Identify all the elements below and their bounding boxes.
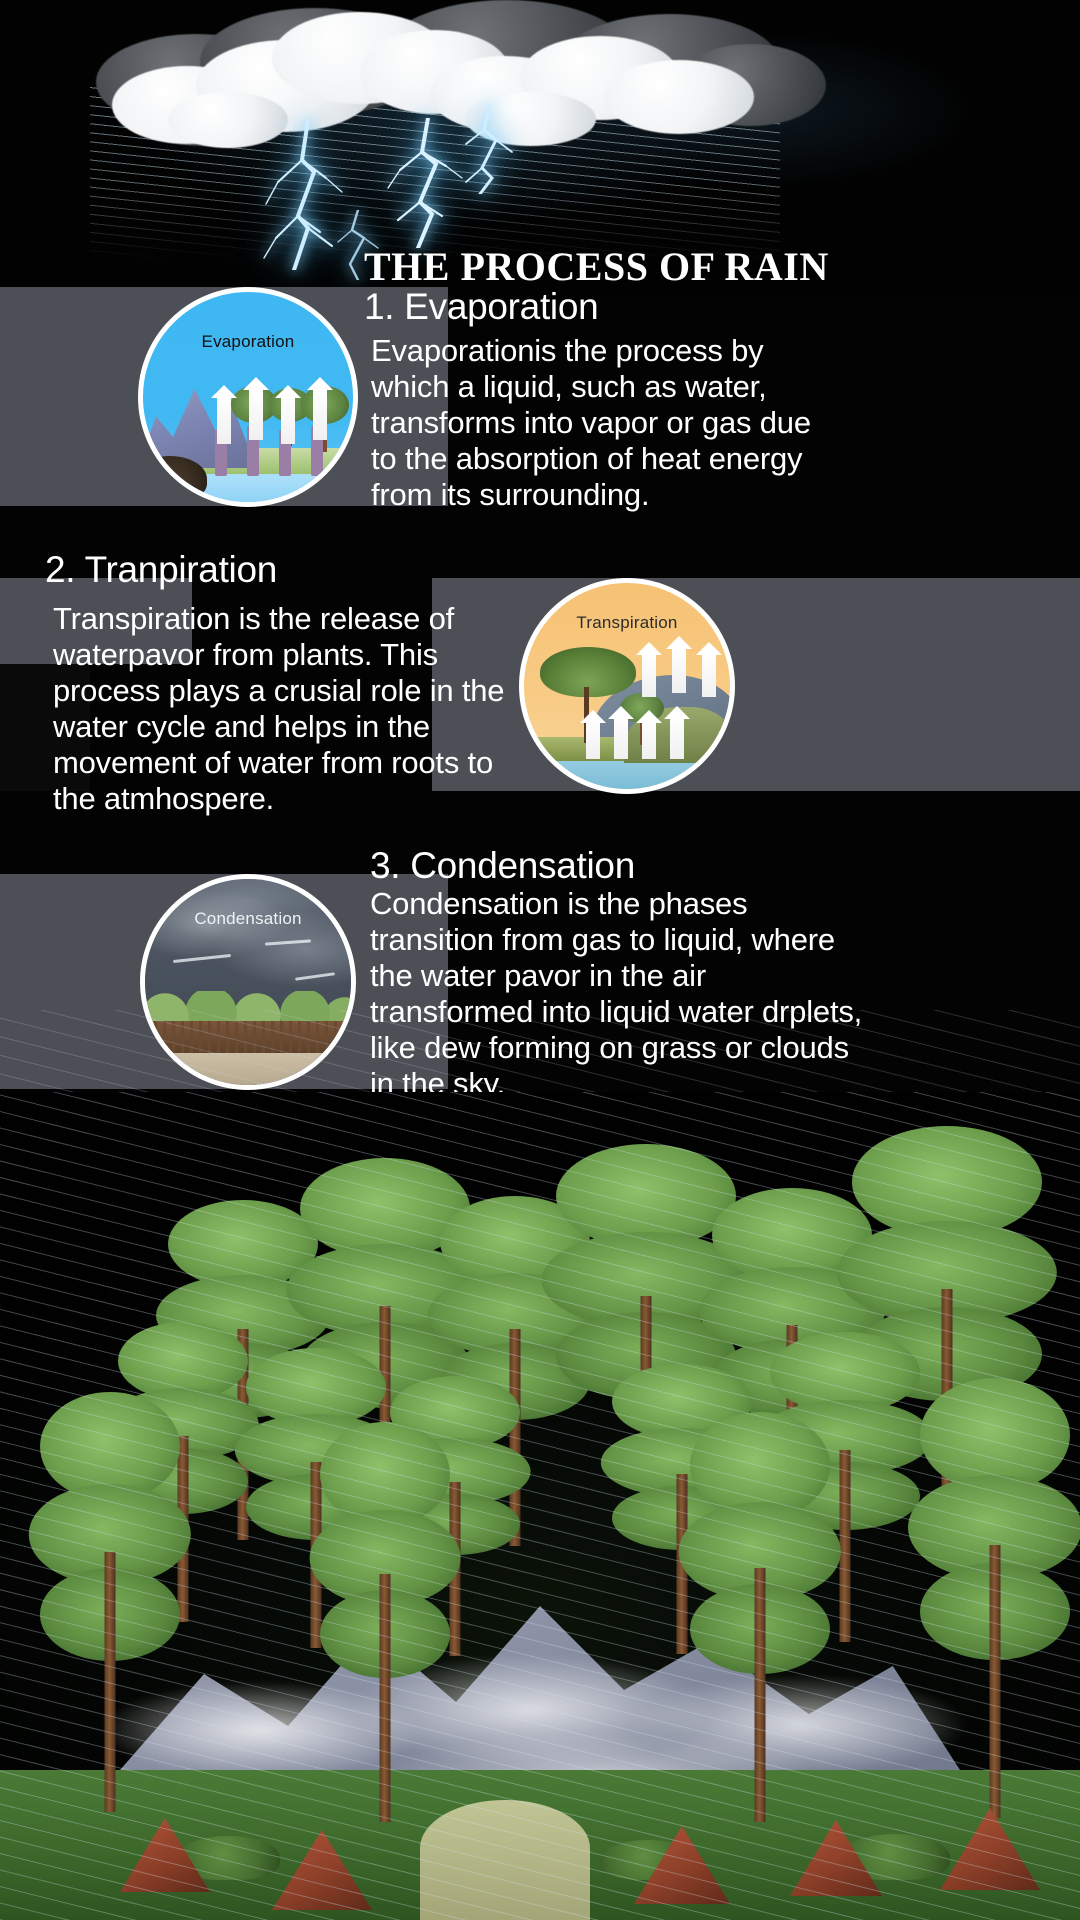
section-1-heading: 1. Evaporation (364, 286, 598, 328)
infographic-page: THE PROCESS OF RAIN Evaporation 1. Evapo… (0, 0, 1080, 1920)
transpiration-circle-label: Transpiration (524, 613, 730, 633)
section-2-heading: 2. Tranpiration (45, 549, 277, 591)
forest-tree (690, 1412, 830, 1822)
section-3-heading: 3. Condensation (370, 845, 635, 887)
evaporation-arrow (313, 388, 327, 440)
white-cloud-puff (604, 60, 754, 134)
transpiration-arrow (702, 653, 716, 697)
forest-tree (920, 1378, 1070, 1818)
transpiration-arrow (642, 721, 656, 759)
section-1-body: Evaporationis the process by which a liq… (371, 333, 841, 513)
road (145, 1053, 351, 1085)
evaporation-illustration: Evaporation (138, 287, 358, 507)
evaporation-arrow (249, 388, 263, 440)
condensation-illustration: Condensation (140, 874, 356, 1090)
forest-tree (320, 1422, 450, 1822)
evaporation-arrow (281, 396, 295, 444)
transpiration-arrow (614, 717, 628, 759)
page-title: THE PROCESS OF RAIN (364, 243, 1004, 290)
evaporation-circle-label: Evaporation (143, 332, 353, 352)
section-2-body: Transpiration is the release of waterpav… (53, 601, 531, 817)
evaporation-arrow (217, 396, 231, 444)
tent-hut (272, 1830, 372, 1910)
transpiration-arrow (672, 647, 686, 693)
fence (145, 1021, 351, 1055)
condensation-circle-label: Condensation (145, 909, 351, 929)
transpiration-arrow (642, 653, 656, 697)
forest-tree (40, 1392, 180, 1812)
section-3-body: Condensation is the phases transition fr… (370, 886, 870, 1102)
lightning-bolt (452, 104, 532, 199)
tent-hut (790, 1820, 882, 1896)
tent-hut (634, 1826, 730, 1904)
rock-bush (138, 456, 207, 502)
transpiration-arrow (586, 721, 600, 759)
transpiration-arrow (670, 717, 684, 759)
rainy-forest-scene (0, 1092, 1080, 1920)
tent-hut (940, 1808, 1040, 1890)
fog-layer (60, 1590, 1020, 1800)
transpiration-illustration: Transpiration (519, 578, 735, 794)
tent-hut (120, 1818, 210, 1892)
